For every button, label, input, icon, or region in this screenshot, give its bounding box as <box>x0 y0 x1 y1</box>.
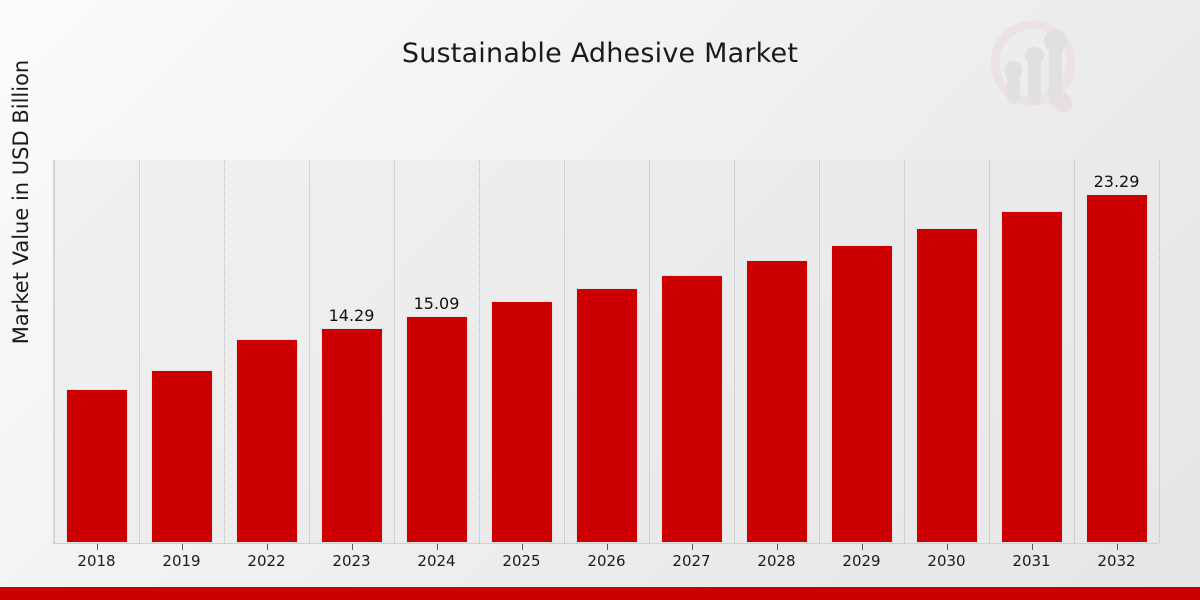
bar-slot <box>904 160 989 543</box>
bar[interactable] <box>916 228 978 543</box>
x-axis-tick-mark <box>437 544 438 550</box>
x-axis-tick-mark <box>947 544 948 550</box>
page-title: Sustainable Adhesive Market <box>0 38 1200 69</box>
chart-canvas: Sustainable Adhesive Market Market Value… <box>0 0 1200 600</box>
x-axis-tick-label: 2026 <box>587 552 625 570</box>
x-axis-tick-mark <box>182 544 183 550</box>
bar-slot <box>224 160 309 543</box>
x-axis-tick-label: 2032 <box>1097 552 1135 570</box>
x-axis-tick-label: 2030 <box>927 552 965 570</box>
x-axis-tick-label: 2027 <box>672 552 710 570</box>
x-axis-tick-mark <box>97 544 98 550</box>
x-axis-tick-mark <box>777 544 778 550</box>
x-axis-tick-mark <box>862 544 863 550</box>
bar-value-label: 15.09 <box>414 294 460 313</box>
bar[interactable] <box>1086 194 1148 543</box>
x-axis-tick-mark <box>1117 544 1118 550</box>
bar[interactable] <box>661 275 723 543</box>
bar[interactable] <box>406 316 468 543</box>
bar-slot <box>564 160 649 543</box>
bar[interactable] <box>66 389 128 543</box>
bar-slot <box>139 160 224 543</box>
x-axis-tick-mark <box>1032 544 1033 550</box>
bar[interactable] <box>1001 211 1063 543</box>
x-axis-tick-mark <box>352 544 353 550</box>
x-axis-tick-label: 2019 <box>162 552 200 570</box>
bar-slot <box>819 160 904 543</box>
bar[interactable] <box>151 370 213 543</box>
bar[interactable] <box>236 339 298 543</box>
bar[interactable] <box>491 301 553 543</box>
bar-slot: 14.29 <box>309 160 394 543</box>
x-axis-tick-mark <box>267 544 268 550</box>
x-axis-tick-label: 2025 <box>502 552 540 570</box>
x-axis-tick-mark <box>522 544 523 550</box>
bar-slot <box>989 160 1074 543</box>
bar[interactable] <box>576 288 638 543</box>
bar-slot <box>479 160 564 543</box>
market-research-magnifier-logo <box>988 16 1104 126</box>
bar-slot: 15.09 <box>394 160 479 543</box>
x-axis-tick-label: 2018 <box>77 552 115 570</box>
bar-slot <box>54 160 139 543</box>
bar-value-label: 23.29 <box>1094 172 1140 191</box>
bar[interactable] <box>746 260 808 543</box>
gridline <box>1159 160 1161 543</box>
bar[interactable] <box>831 245 893 543</box>
bar-slot <box>734 160 819 543</box>
bar-slot <box>649 160 734 543</box>
bar[interactable] <box>321 328 383 543</box>
bar-slot: 23.29 <box>1074 160 1159 543</box>
y-axis-title: Market Value in USD Billion <box>9 0 33 417</box>
plot-area: 20182019202214.29202315.0920242025202620… <box>53 160 1158 544</box>
x-axis-tick-label: 2023 <box>332 552 370 570</box>
x-axis-tick-mark <box>692 544 693 550</box>
x-axis-tick-label: 2028 <box>757 552 795 570</box>
x-axis-tick-label: 2022 <box>247 552 285 570</box>
magnifier-handle-icon <box>1041 82 1076 116</box>
bottom-accent-strip <box>0 587 1200 600</box>
x-axis-tick-label: 2031 <box>1012 552 1050 570</box>
x-axis-tick-label: 2029 <box>842 552 880 570</box>
x-axis-tick-mark <box>607 544 608 550</box>
bar-value-label: 14.29 <box>329 306 375 325</box>
x-axis-tick-label: 2024 <box>417 552 455 570</box>
